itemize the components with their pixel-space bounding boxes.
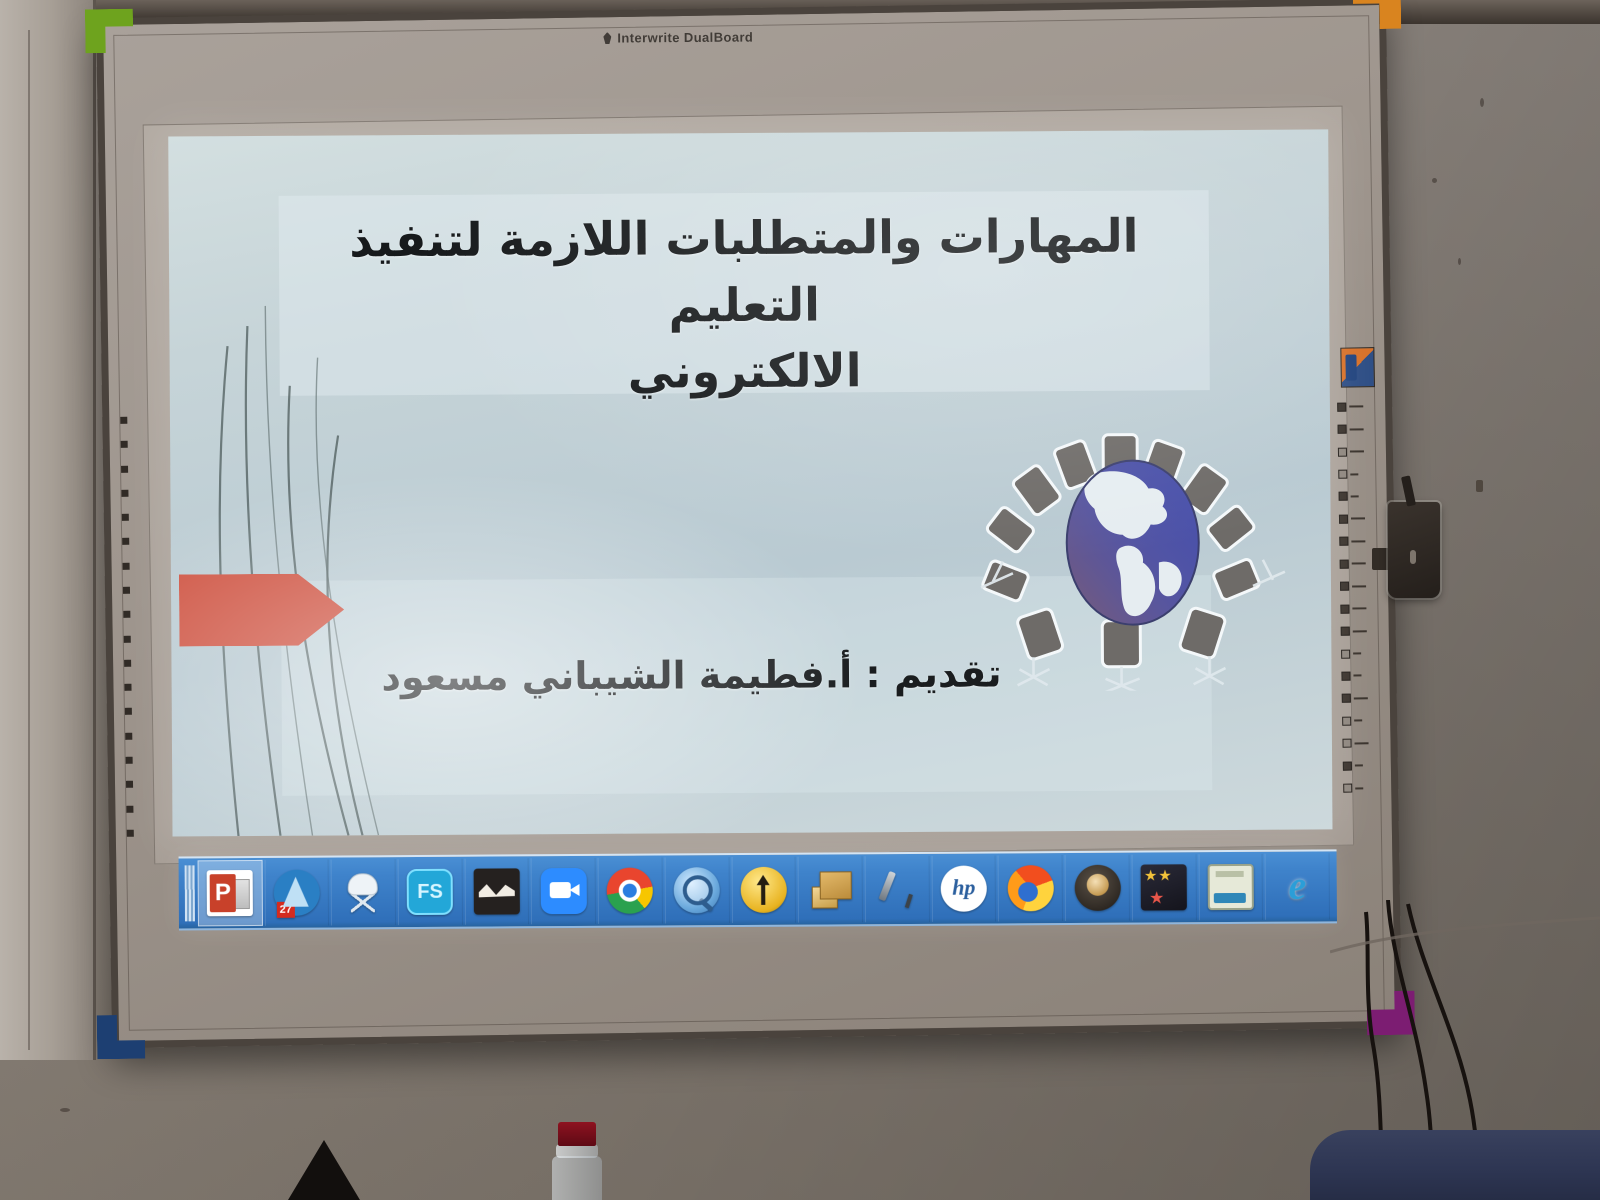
firefox-icon — [1007, 865, 1053, 911]
taskbar-item-hp[interactable] — [931, 855, 996, 921]
taskbar-item-chrome[interactable] — [598, 857, 663, 923]
wall-mounted-sensor — [1388, 502, 1440, 598]
tool-label-line — [1353, 675, 1361, 677]
windows-taskbar[interactable] — [179, 849, 1337, 930]
wall-speck — [1480, 98, 1484, 107]
tool-strip-row[interactable] — [1339, 487, 1359, 506]
magnifier-icon — [674, 867, 720, 913]
tool-label-line — [1354, 697, 1368, 699]
taskbar-item-faststone[interactable] — [398, 859, 463, 925]
tool-icon[interactable] — [1343, 784, 1352, 793]
tool-label-line — [1350, 450, 1364, 452]
tool-icon[interactable] — [1339, 537, 1348, 546]
tool-strip-row[interactable] — [1337, 420, 1363, 439]
tool-label-line — [1355, 787, 1363, 789]
bottle-neck — [556, 1144, 598, 1158]
tool-strip-row[interactable] — [1338, 465, 1358, 484]
tool-label-line — [1352, 607, 1366, 609]
fs-icon — [407, 869, 453, 915]
tool-label-line — [1349, 406, 1363, 408]
slide-title-line-1: المهارات والمتطلبات اللازمة لتنفيذ التعل… — [289, 202, 1200, 341]
interwrite-tool-strip[interactable] — [1337, 397, 1377, 797]
up-arrow-icon — [741, 867, 787, 913]
tool-strip-row[interactable] — [1337, 397, 1363, 416]
tool-strip-row[interactable] — [1342, 734, 1368, 753]
marker-dot — [120, 417, 127, 424]
tool-strip-row[interactable] — [1343, 756, 1363, 775]
tool-icon[interactable] — [1338, 425, 1347, 434]
tool-strip-row[interactable] — [1342, 689, 1368, 708]
scissors-icon — [340, 869, 386, 915]
tool-icon[interactable] — [1339, 514, 1348, 523]
tool-strip-row[interactable] — [1339, 532, 1365, 551]
taskbar-item-snipping-tool[interactable] — [331, 859, 396, 925]
taskbar-item-stars-app[interactable] — [1131, 854, 1196, 920]
taskbar-item-pen-tool[interactable] — [865, 856, 930, 922]
tool-icon[interactable] — [1342, 739, 1351, 748]
board-brand-label: Interwrite DualBoard — [603, 30, 753, 46]
bottle-cap — [558, 1122, 596, 1146]
tool-icon[interactable] — [1343, 761, 1352, 770]
marker-dot — [125, 732, 132, 739]
bottle-body — [552, 1156, 602, 1200]
tool-icon[interactable] — [1339, 492, 1348, 501]
hp-icon — [941, 866, 987, 912]
tool-strip-row[interactable] — [1338, 442, 1364, 461]
tool-label-line — [1352, 585, 1366, 587]
tool-label-line — [1353, 630, 1367, 632]
blue-chair-back — [1310, 1130, 1600, 1200]
door-frame-line — [8, 30, 30, 1050]
tool-label-line — [1354, 720, 1362, 722]
tool-label-line — [1350, 473, 1358, 475]
marker-dot — [123, 635, 130, 642]
tool-strip-row[interactable] — [1343, 779, 1363, 798]
wall-speck — [60, 1108, 70, 1112]
tool-label-line — [1355, 765, 1363, 767]
interwrite-dualboard[interactable]: Interwrite DualBoard — [96, 0, 1402, 1048]
board-frame: Interwrite DualBoard — [96, 0, 1402, 1048]
tool-strip-row[interactable] — [1340, 577, 1366, 596]
tool-label-line — [1351, 495, 1359, 497]
ie-icon — [1274, 863, 1320, 909]
tool-icon[interactable] — [1340, 604, 1349, 613]
marker-dot — [123, 611, 130, 618]
marker-dot — [126, 805, 133, 812]
pen-icon — [874, 866, 920, 912]
wall-speck — [1458, 258, 1461, 265]
marker-dot — [122, 538, 129, 545]
classroom-scene: Interwrite DualBoard — [0, 0, 1600, 1200]
marker-dot — [121, 514, 128, 521]
wall-left-edge — [0, 0, 96, 1060]
tool-icon[interactable] — [1341, 649, 1350, 658]
marker-dot — [124, 660, 131, 667]
tool-strip-row[interactable] — [1339, 510, 1365, 529]
slide-title: المهارات والمتطلبات اللازمة لتنفيذ التعل… — [289, 202, 1200, 408]
tool-icon[interactable] — [1341, 627, 1350, 636]
tool-icon[interactable] — [1338, 447, 1347, 456]
taskbar-item-firefox[interactable] — [998, 855, 1063, 921]
taskbar-item-utorrent[interactable] — [731, 857, 796, 923]
tool-icon[interactable] — [1340, 559, 1349, 568]
tool-icon[interactable] — [1338, 470, 1347, 479]
tool-strip-row[interactable] — [1340, 554, 1366, 573]
taskbar-item-internet-explorer[interactable] — [1265, 853, 1330, 919]
scanner-icon — [1208, 864, 1254, 910]
taskbar-grip[interactable] — [185, 865, 195, 921]
blue-triangle-icon — [274, 870, 320, 916]
tool-strip-row[interactable] — [1342, 712, 1362, 731]
tool-label-line — [1350, 428, 1364, 430]
marker-dot — [124, 708, 131, 715]
water-bottle — [548, 1122, 606, 1200]
chrome-icon — [607, 868, 653, 914]
tool-icon[interactable] — [1337, 402, 1346, 411]
box-icon — [807, 866, 853, 912]
wall-screw-hole — [1476, 480, 1483, 492]
tool-label-line — [1351, 540, 1365, 542]
taskbar-item-disc-app[interactable] — [1065, 855, 1130, 921]
stars-icon — [1141, 864, 1187, 910]
video-camera-icon — [540, 868, 586, 914]
tool-label-line — [1351, 518, 1365, 520]
marker-dot — [121, 490, 128, 497]
slide-title-line-2: الالكتروني — [289, 336, 1199, 408]
marker-dot — [124, 684, 131, 691]
tool-icon[interactable] — [1341, 672, 1350, 681]
taskbar-item-zoom[interactable] — [531, 858, 596, 924]
tool-strip-row[interactable] — [1340, 599, 1366, 618]
tool-label-line — [1355, 742, 1369, 744]
taskbar-item-scanner[interactable] — [1198, 854, 1263, 920]
wall-speck — [1432, 178, 1437, 183]
marker-dot — [120, 441, 127, 448]
powerpoint-icon — [207, 870, 253, 916]
marker-dot — [125, 757, 132, 764]
marker-dot — [122, 562, 129, 569]
taskbar-item-dark-app[interactable] — [464, 858, 529, 924]
marker-dot — [121, 465, 128, 472]
tool-icon[interactable] — [1342, 694, 1351, 703]
tool-icon[interactable] — [1342, 716, 1351, 725]
taskbar-item-package[interactable] — [798, 856, 863, 922]
taskbar-item-magnifier[interactable] — [664, 857, 729, 923]
tool-label-line — [1352, 563, 1366, 565]
slide-presenter-text: تقديم : أ.فطيمة الشيباني مسعود — [361, 651, 1001, 699]
signature-icon — [474, 868, 520, 914]
pen-icon — [603, 32, 611, 44]
tool-strip-row[interactable] — [1341, 644, 1361, 663]
disc-icon — [1074, 865, 1120, 911]
taskbar-item-powerpoint[interactable] — [197, 860, 262, 926]
tool-strip-row[interactable] — [1341, 667, 1361, 686]
tool-icon[interactable] — [1340, 582, 1349, 591]
tool-strip-row[interactable] — [1341, 622, 1367, 641]
marker-dot — [126, 829, 133, 836]
marker-dot — [125, 781, 132, 788]
person-head-silhouette — [288, 1140, 360, 1200]
globe-conference-graphic — [972, 430, 1294, 692]
marker-dot — [122, 587, 129, 594]
interwrite-logo-icon — [1340, 347, 1375, 388]
projected-slide[interactable]: المهارات والمتطلبات اللازمة لتنفيذ التعل… — [168, 129, 1332, 836]
board-brand-text: Interwrite DualBoard — [617, 30, 753, 46]
tool-label-line — [1353, 652, 1361, 654]
taskbar-item-blue-app[interactable] — [264, 860, 329, 926]
